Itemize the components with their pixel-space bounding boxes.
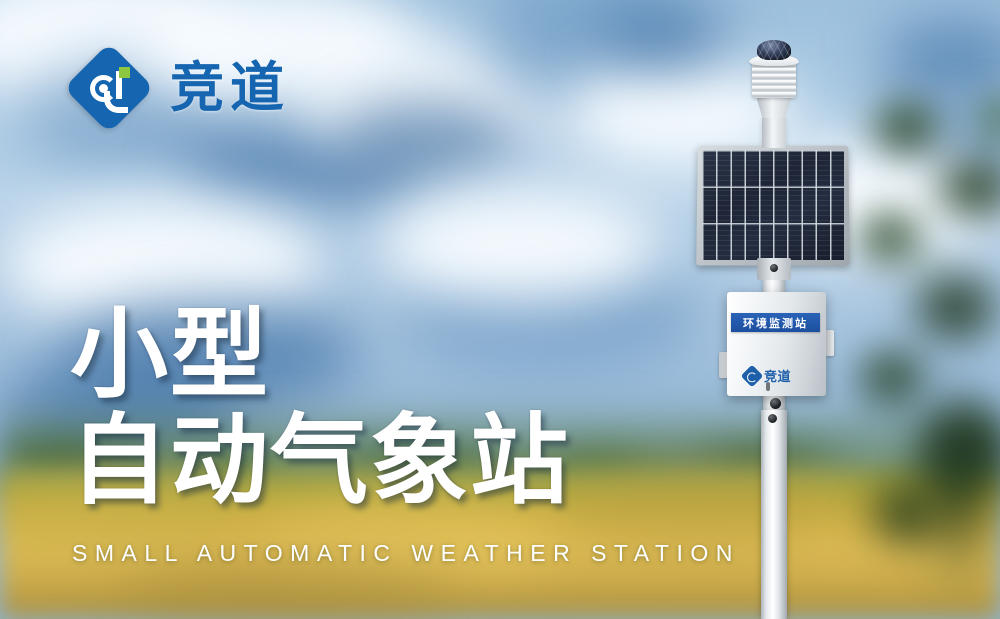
field-blotch xyxy=(120,560,460,619)
cloud-shape xyxy=(380,190,660,300)
headline-line-2: 自动气象站 xyxy=(70,412,570,512)
jingdao-diamond-icon xyxy=(741,364,764,387)
pole-bolt xyxy=(768,414,777,423)
cloud-shape xyxy=(180,120,430,210)
headline-block: 小型 自动气象站 xyxy=(70,306,570,512)
control-box-bolt xyxy=(770,398,781,409)
radiation-shield-icon xyxy=(752,62,796,98)
cloud-shape xyxy=(480,0,680,110)
logo-green-square xyxy=(119,67,130,78)
product-banner: 环境监测站 竞道 竞道 小型 自动气象站 SMALL AUTOMATIC WEA… xyxy=(0,0,1000,619)
brand-wordmark: 竞道 xyxy=(170,61,290,115)
cloud-shape xyxy=(600,0,730,70)
control-box-label: 环境监测站 xyxy=(731,313,820,332)
sensor-dome-facets xyxy=(757,40,791,60)
field-blotch xyxy=(560,470,840,550)
headline-subtitle: SMALL AUTOMATIC WEATHER STATION xyxy=(72,540,740,567)
headline-line-1: 小型 xyxy=(70,306,570,406)
support-pole-lower xyxy=(761,410,787,619)
control-box-screw xyxy=(766,382,770,391)
jingdao-diamond-logo-icon xyxy=(66,45,152,131)
brand-logo: 竞道 xyxy=(66,45,290,131)
solar-panel xyxy=(697,145,849,265)
solar-panel-bolt xyxy=(770,264,778,272)
control-box-label-text: 环境监测站 xyxy=(743,315,808,331)
foreground-tree-lower xyxy=(900,330,1000,619)
cloud-shape xyxy=(330,100,520,180)
cloud-shape xyxy=(300,40,560,160)
solar-panel-cells xyxy=(702,150,844,260)
